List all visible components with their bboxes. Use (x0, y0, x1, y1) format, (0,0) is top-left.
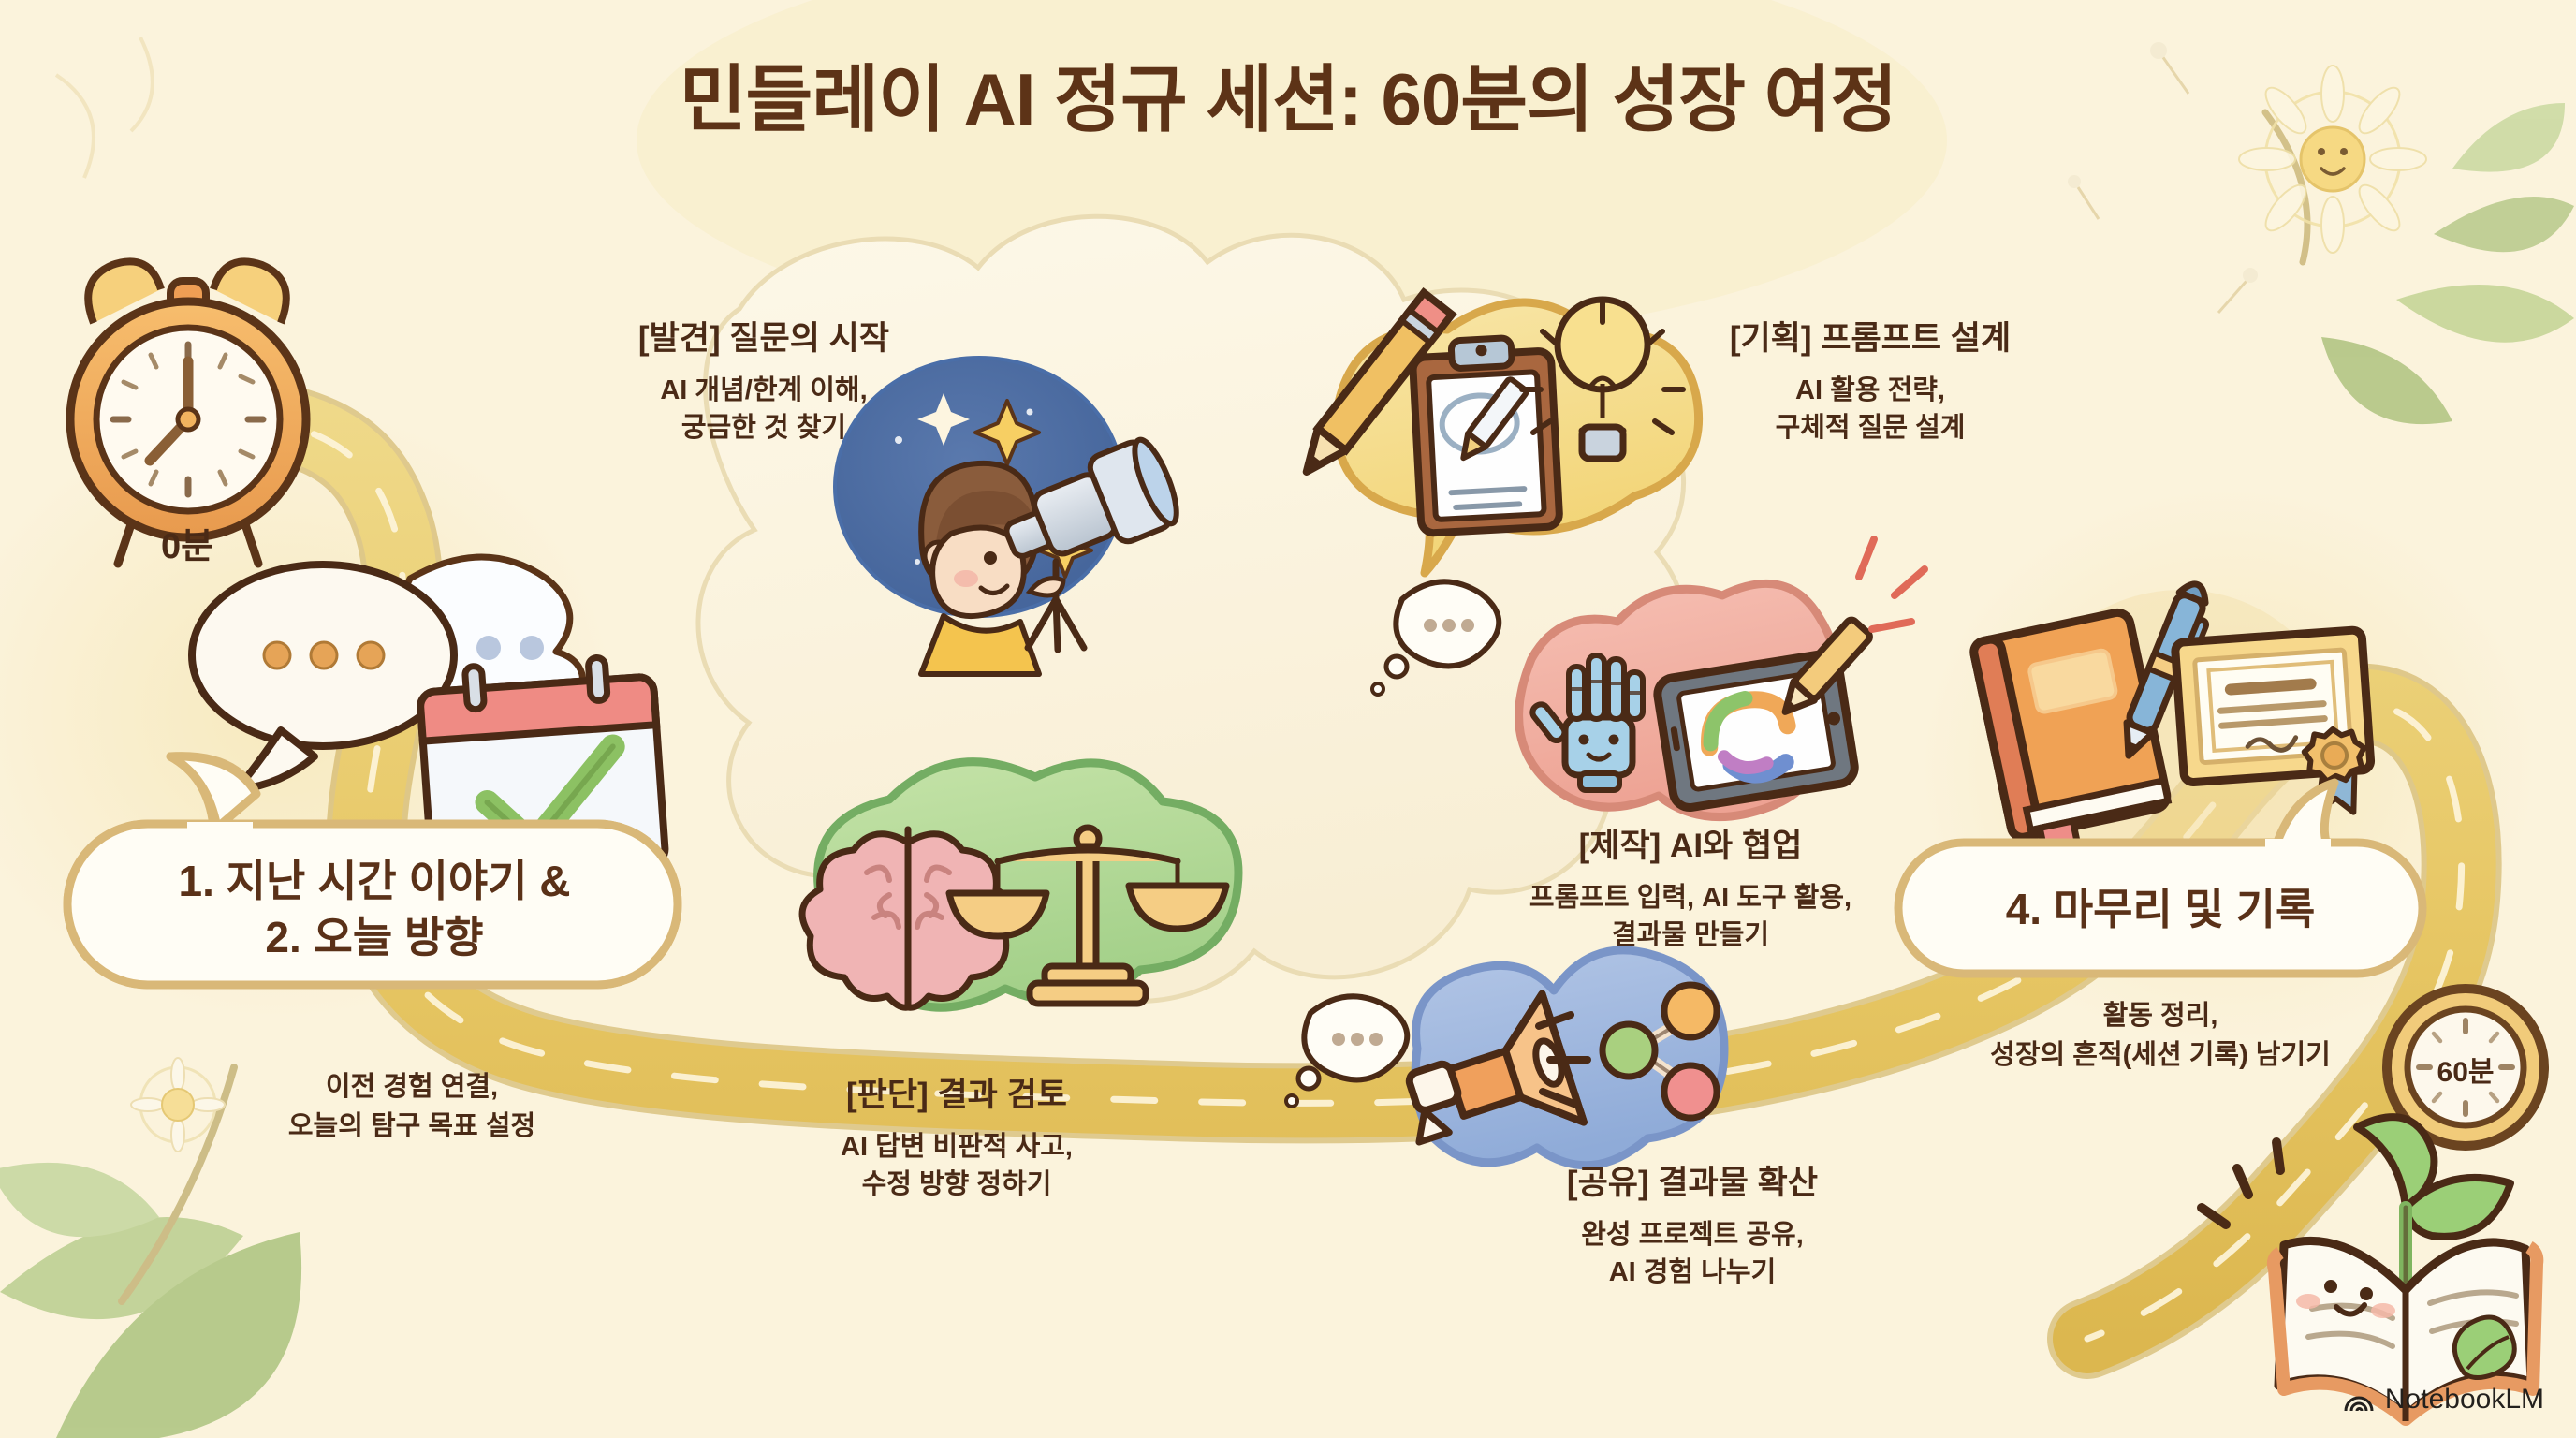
bubble-start-label-line1: 1. 지난 시간 이야기 & (179, 854, 571, 910)
step-discover-sub-2: 궁금한 것 찾기 (681, 410, 846, 447)
illustrations-layer (0, 0, 2576, 1438)
bubble-start-label-line2: 2. 오늘 방향 (265, 910, 483, 966)
bubble-finish-sub-2: 성장의 흔적(세션 기록) 남기기 (1990, 1037, 2331, 1074)
girl-telescope-stars-icon (835, 358, 1185, 674)
step-judge-title: [판단] 결과 검토 (846, 1075, 1067, 1117)
bubble-finish-sub-1: 활동 정리, (2103, 998, 2218, 1034)
megaphone-share-network-icon (1387, 950, 1724, 1172)
step-share-title: [공유] 결과물 확산 (1567, 1163, 1818, 1205)
page-title: 민들레이 AI 정규 세션: 60분의 성장 여정 (680, 41, 1896, 146)
open-book-sprout-icon (2202, 1117, 2537, 1421)
step-judge-sub-2: 수정 방향 정하기 (862, 1167, 1052, 1203)
step-create-sub-2: 결과물 만들기 (1612, 917, 1769, 954)
bubble-start-sub-1: 이전 경험 연결, (326, 1069, 498, 1106)
step-create-sub-1: 프롬프트 입력, AI 도구 활용, (1529, 880, 1851, 917)
notebooklm-watermark-label: NotebookLM (2385, 1384, 2544, 1416)
step-plan-sub-1: AI 활용 전략, (1795, 373, 1945, 409)
step-plan-sub-2: 구체적 질문 설계 (1776, 410, 1966, 447)
infographic-canvas: 민들레이 AI 정규 세션: 60분의 성장 여정 0분 60분 [발견] 질문… (0, 0, 2576, 1438)
step-create-title: [제작] AI와 협업 (1579, 826, 1803, 868)
step-judge-sub-1: AI 답변 비판적 사고, (841, 1129, 1073, 1166)
notebooklm-spiral-icon (2343, 1386, 2375, 1414)
step-discover-title: [발견] 질문의 시작 (638, 318, 889, 360)
start-time-label: 0분 (161, 517, 213, 568)
robot-hand-tablet-icon (1519, 539, 1925, 817)
end-time-label: 60분 (2437, 1049, 2495, 1090)
bubble-start-sub-2: 오늘의 탐구 목표 설정 (288, 1108, 535, 1145)
notebooklm-watermark: NotebookLM (2343, 1384, 2544, 1416)
thought-bubble-small-create-icon (1372, 581, 1499, 695)
step-share-sub-1: 완성 프로젝트 공유, (1581, 1217, 1804, 1254)
brain-scales-icon (802, 762, 1238, 1008)
bubble-finish-label: 4. 마무리 및 기록 (2006, 882, 2316, 938)
step-plan-title: [기획] 프롬프트 설계 (1730, 318, 2011, 360)
thought-bubble-small-share-icon (1286, 996, 1407, 1107)
clipboard-pencil-lightbulb-icon (1293, 293, 1699, 573)
step-discover-sub-1: AI 개념/한계 이해, (660, 373, 867, 409)
step-share-sub-2: AI 경험 나누기 (1609, 1255, 1777, 1291)
